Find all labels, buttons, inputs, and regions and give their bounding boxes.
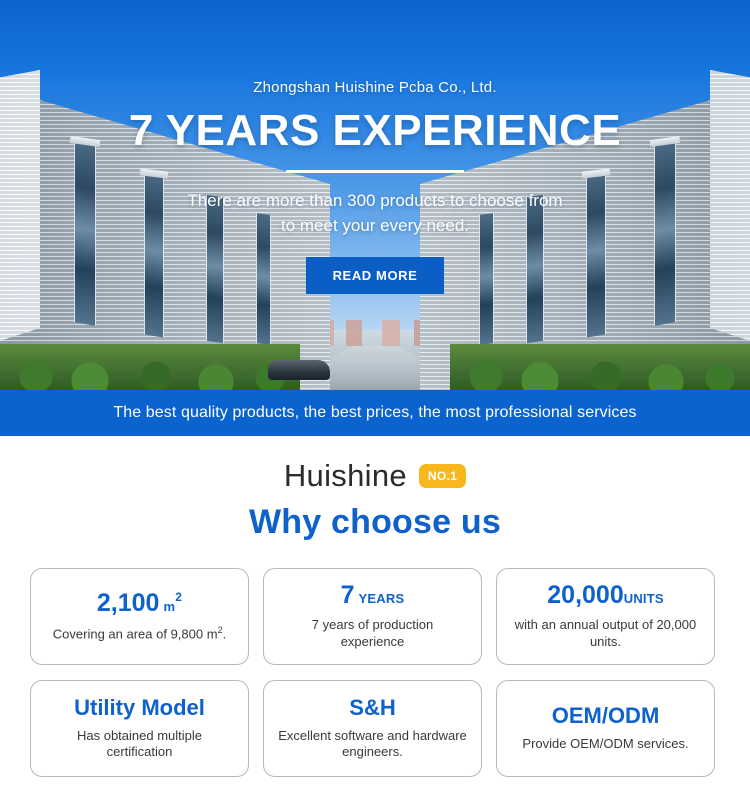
- brand-name: Huishine: [284, 458, 407, 494]
- read-more-button[interactable]: READ MORE: [306, 257, 444, 294]
- feature-card-desc: 7 years of production experience: [293, 617, 453, 650]
- no1-badge: NO.1: [419, 464, 466, 488]
- feature-value-unit: UNITS: [624, 591, 664, 606]
- feature-card-desc: Provide OEM/ODM services.: [522, 736, 688, 752]
- hero-copy: Zhongshan Huishine Pcba Co., Ltd. 7 YEAR…: [0, 0, 750, 294]
- company-name: Zhongshan Huishine Pcba Co., Ltd.: [0, 79, 750, 96]
- feature-card-desc: with an annual output of 20,000 units.: [513, 617, 698, 650]
- tagline-text: The best quality products, the best pric…: [113, 404, 636, 422]
- feature-card-value: 20,000UNITS: [547, 583, 663, 608]
- hero-lead: There are more than 300 products to choo…: [0, 189, 750, 238]
- hero-section: Zhongshan Huishine Pcba Co., Ltd. 7 YEAR…: [0, 0, 750, 390]
- hero-lead-line1: There are more than 300 products to choo…: [187, 191, 562, 210]
- feature-card-desc: Excellent software and hardware engineer…: [268, 728, 477, 761]
- feature-card-desc: Covering an area of 9,800 m2.: [53, 625, 226, 643]
- feature-card-value: Utility Model: [74, 697, 205, 719]
- hero-lead-line2: to meet your every need.: [281, 216, 469, 235]
- feature-card-sh[interactable]: S&H Excellent software and hardware engi…: [263, 680, 482, 777]
- feature-value-number: 2,100: [97, 589, 160, 617]
- brand-row: Huishine NO.1: [0, 458, 750, 494]
- feature-value-number: 7: [341, 581, 355, 609]
- feature-value-number: 20,000: [547, 581, 623, 609]
- feature-card-area[interactable]: 2,100m2 Covering an area of 9,800 m2.: [30, 568, 249, 665]
- section-title: Why choose us: [0, 503, 750, 542]
- feature-value-unit: YEARS: [359, 591, 405, 606]
- feature-card-grid: 2,100m2 Covering an area of 9,800 m2. 7Y…: [30, 568, 720, 777]
- feature-card-value: 2,100m2: [97, 591, 182, 616]
- feature-card-utility-model[interactable]: Utility Model Has obtained multiple cert…: [30, 680, 249, 777]
- feature-desc-tail: .: [223, 626, 227, 641]
- feature-card-value: 7YEARS: [341, 583, 405, 608]
- feature-value-unit: m: [163, 599, 175, 614]
- hero-headline: 7 YEARS EXPERIENCE: [0, 108, 750, 154]
- greenery-right: [450, 344, 750, 390]
- feature-card-value: OEM/ODM: [552, 705, 660, 727]
- parked-car: [268, 360, 330, 380]
- tagline-banner: The best quality products, the best pric…: [0, 390, 750, 436]
- feature-desc-text: Covering an area of 9,800 m: [53, 626, 218, 641]
- feature-card-desc: Has obtained multiple certification: [52, 728, 227, 761]
- feature-value-unit-exponent: 2: [175, 590, 182, 604]
- feature-card-units[interactable]: 20,000UNITS with an annual output of 20,…: [496, 568, 715, 665]
- hero-divider: [286, 170, 464, 173]
- feature-card-years[interactable]: 7YEARS 7 years of production experience: [263, 568, 482, 665]
- feature-card-oem-odm[interactable]: OEM/ODM Provide OEM/ODM services.: [496, 680, 715, 777]
- landing-page: Zhongshan Huishine Pcba Co., Ltd. 7 YEAR…: [0, 0, 750, 806]
- feature-card-value: S&H: [349, 697, 395, 719]
- why-choose-us-section: Huishine NO.1 Why choose us 2,100m2 Cove…: [0, 436, 750, 777]
- greenery-left: [0, 344, 300, 390]
